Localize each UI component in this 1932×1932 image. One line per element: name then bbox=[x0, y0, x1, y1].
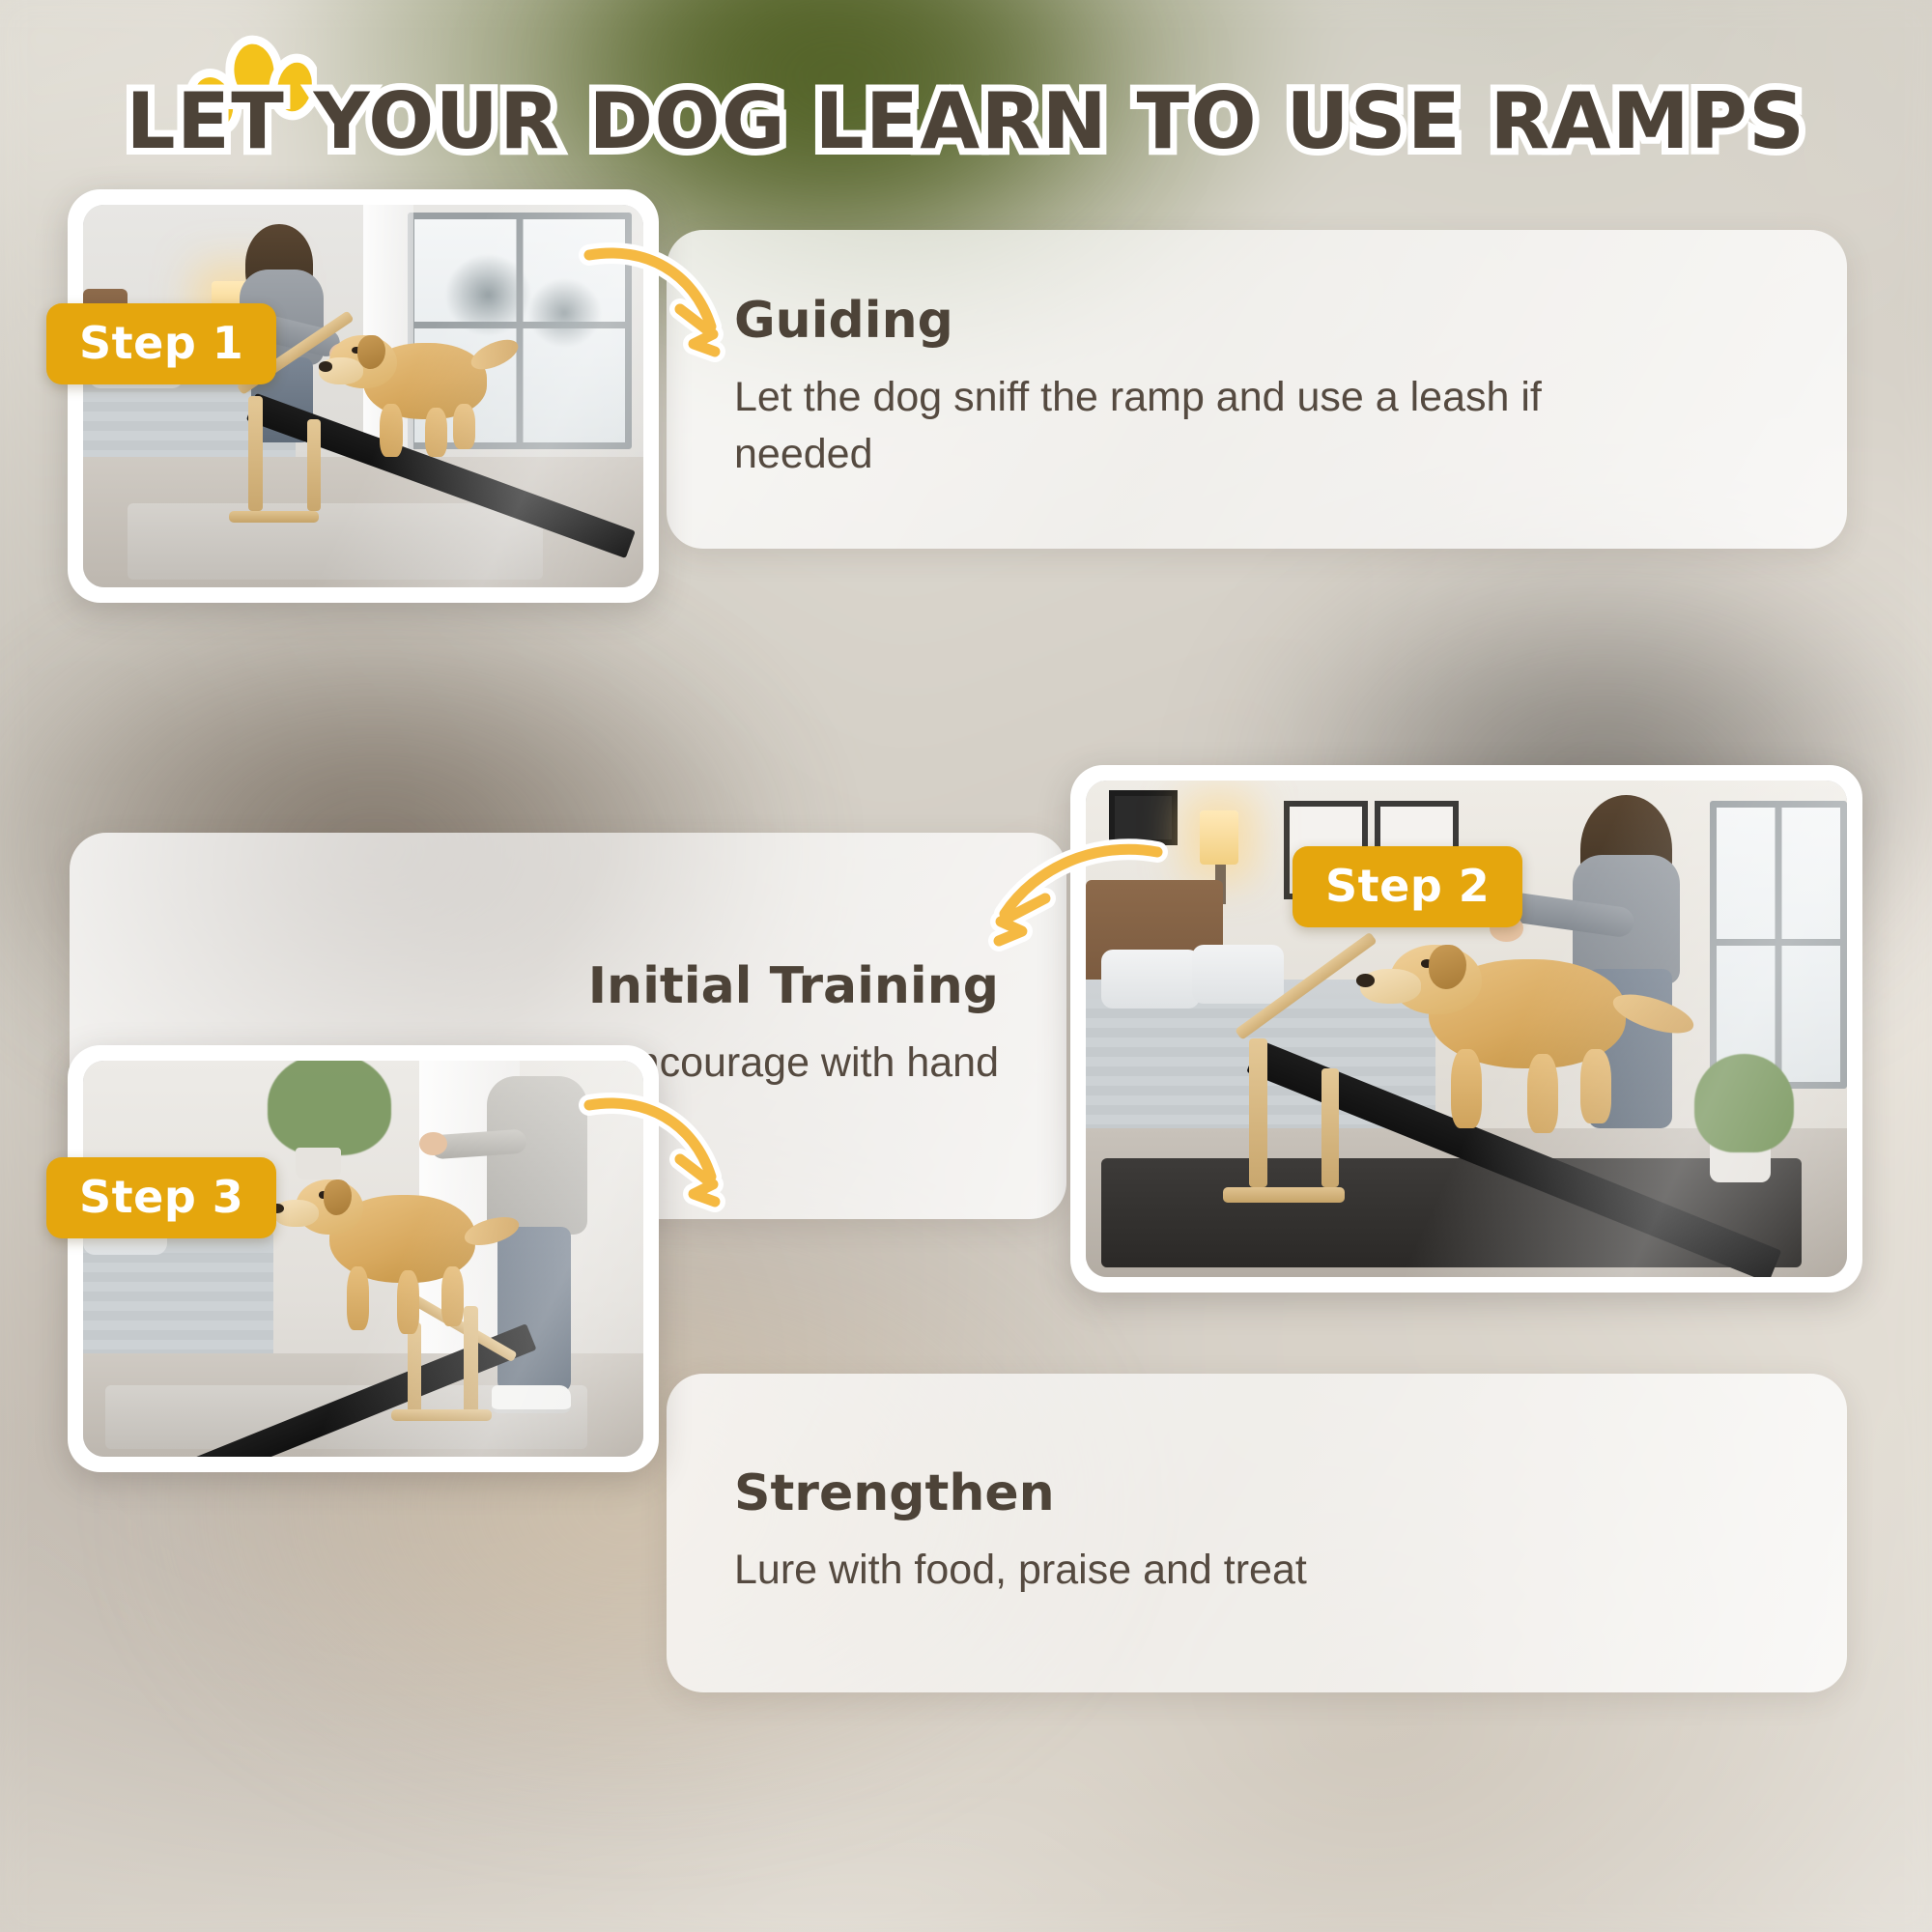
step-3-badge: Step 3 bbox=[46, 1157, 276, 1238]
step-1-badge: Step 1 bbox=[46, 303, 276, 384]
step-2-photo-card bbox=[1070, 765, 1862, 1293]
step-3-heading: Strengthen bbox=[734, 1467, 1055, 1520]
step-1-text-card: Guiding Let the dog sniff the ramp and u… bbox=[667, 230, 1847, 549]
step-3-photo bbox=[83, 1061, 643, 1457]
step-1-photo bbox=[83, 205, 643, 587]
page-title: LET YOUR DOG LEARN TO USE RAMPS bbox=[0, 83, 1932, 160]
step-2-heading: Initial Training bbox=[588, 960, 999, 1013]
step-1-body: Let the dog sniff the ramp and use a lea… bbox=[734, 369, 1604, 484]
step-3-text-card: Strengthen Lure with food, praise and tr… bbox=[667, 1374, 1847, 1692]
step-2-badge: Step 2 bbox=[1293, 846, 1522, 927]
step-3-photo-card bbox=[68, 1045, 659, 1472]
step-3-body: Lure with food, praise and treat bbox=[734, 1542, 1307, 1599]
header: LET YOUR DOG LEARN TO USE RAMPS bbox=[0, 0, 1932, 193]
step-1-photo-card bbox=[68, 189, 659, 603]
step-1-heading: Guiding bbox=[734, 295, 953, 348]
